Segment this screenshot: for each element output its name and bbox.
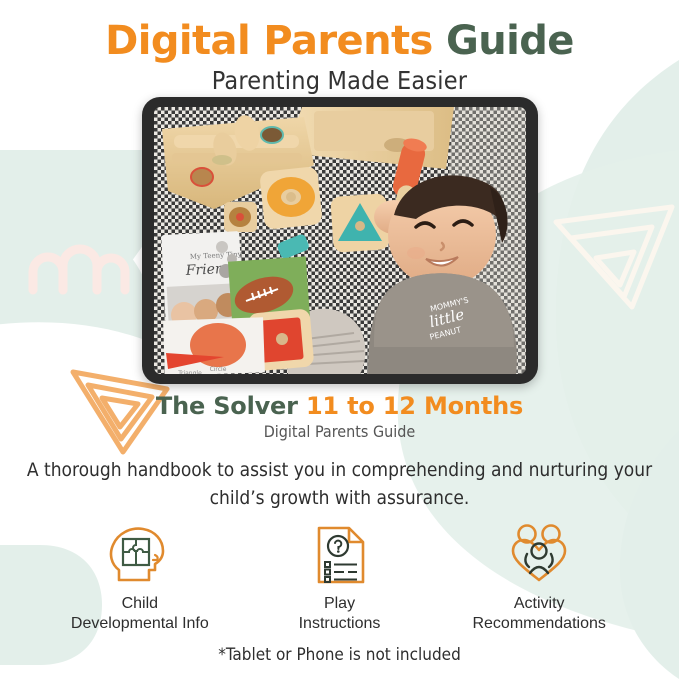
feature-label-line1: Child	[40, 594, 240, 614]
feature-label: Activity Recommendations	[439, 594, 639, 634]
document-question-icon	[240, 524, 440, 586]
page-subtitle: Parenting Made Easier	[0, 66, 679, 95]
header: Digital Parents Guide Parenting Made Eas…	[0, 0, 679, 95]
feature-activity-recommendations: Activity Recommendations	[439, 524, 639, 634]
feature-label-line2: Instructions	[240, 614, 440, 634]
product-age-range: 11 to 12 Months	[306, 392, 523, 420]
shape-label-triangle: Triangle	[177, 370, 202, 374]
product-name-main: The Solver	[156, 392, 306, 420]
product-series: Digital Parents Guide	[0, 422, 679, 441]
tablet-mockup: MOMMY'S little PEANUT My Teeny Tiny Frie…	[142, 97, 538, 384]
feature-label-line1: Play	[240, 594, 440, 614]
tablet-screen: MOMMY'S little PEANUT My Teeny Tiny Frie…	[154, 107, 526, 374]
feature-label-line2: Recommendations	[439, 614, 639, 634]
feature-label-line1: Activity	[439, 594, 639, 614]
feature-play-instructions: Play Instructions	[240, 524, 440, 634]
feature-list: Child Developmental Info	[40, 524, 639, 634]
disclaimer-note: *Tablet or Phone is not included	[0, 645, 679, 665]
head-puzzle-icon	[40, 524, 240, 586]
feature-label-line2: Developmental Info	[40, 614, 240, 634]
feature-child-development: Child Developmental Info	[40, 524, 240, 634]
title-brand: Digital Parents	[105, 18, 446, 64]
product-description: A thorough handbook to assist you in com…	[0, 457, 679, 512]
shape-label-circle: Circle	[210, 366, 227, 373]
family-heart-icon	[439, 524, 639, 586]
page-title: Digital Parents Guide	[0, 20, 679, 62]
product-name: The Solver 11 to 12 Months	[0, 392, 679, 420]
product-photo: MOMMY'S little PEANUT My Teeny Tiny Frie…	[154, 107, 526, 374]
feature-label: Child Developmental Info	[40, 594, 240, 634]
feature-label: Play Instructions	[240, 594, 440, 634]
title-word-guide: Guide	[446, 18, 574, 64]
product-info: The Solver 11 to 12 Months Digital Paren…	[0, 392, 679, 512]
